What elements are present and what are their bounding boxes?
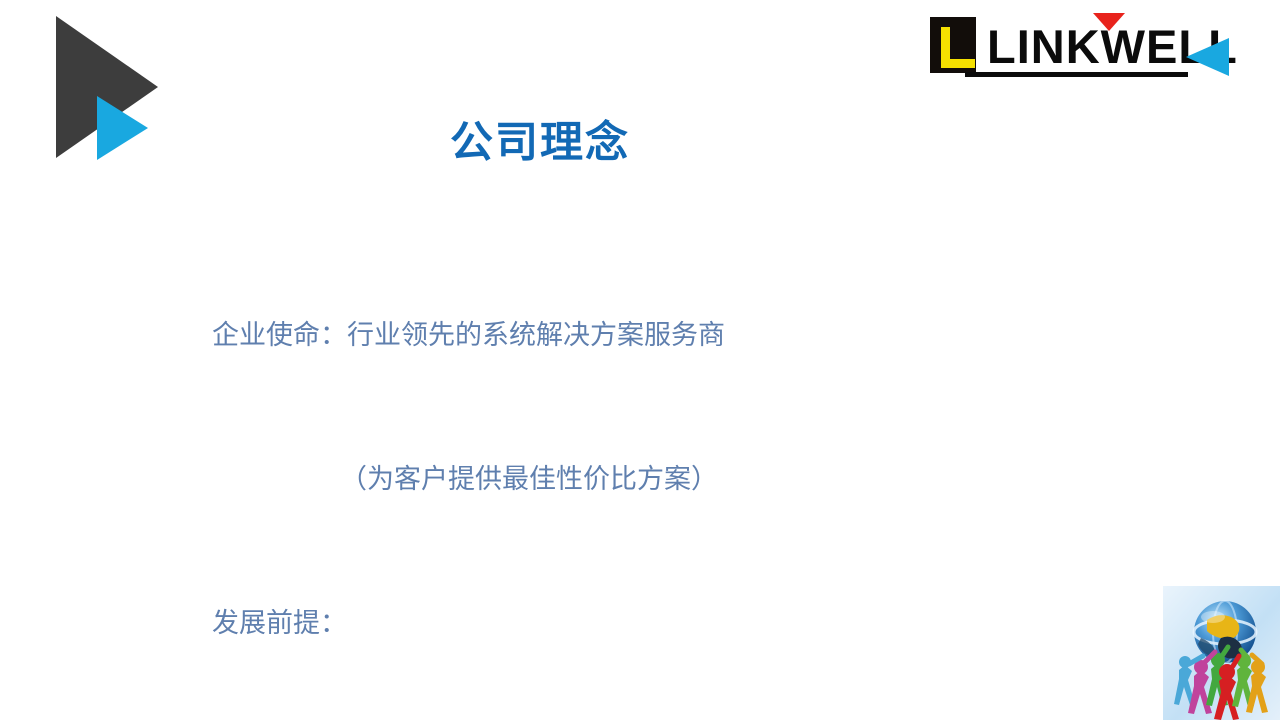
red-triangle-icon <box>1093 13 1125 31</box>
logo-letter-l-base-icon <box>941 59 975 68</box>
teamwork-globe-image <box>1163 586 1280 720</box>
page-title: 公司理念 <box>0 108 1080 170</box>
content-line-premise-heading: 发展前提： <box>212 599 1112 647</box>
content-line-mission-sub: （为客户提供最佳性价比方案） <box>212 455 1112 503</box>
content-line-mission: 企业使命：行业领先的系统解决方案服务商 <box>212 311 1112 359</box>
cyan-arrow-icon <box>1186 38 1229 76</box>
content-body: 企业使命：行业领先的系统解决方案服务商 （为客户提供最佳性价比方案） 发展前提：… <box>212 215 1112 720</box>
decorative-play-marks <box>0 0 200 200</box>
linkwell-logo: LINKWELL <box>928 12 1238 87</box>
presentation-slide: LINKWELL 公司理念 企业使命：行业领先的系统解决方案服务商 （为客户提供… <box>0 0 1280 720</box>
